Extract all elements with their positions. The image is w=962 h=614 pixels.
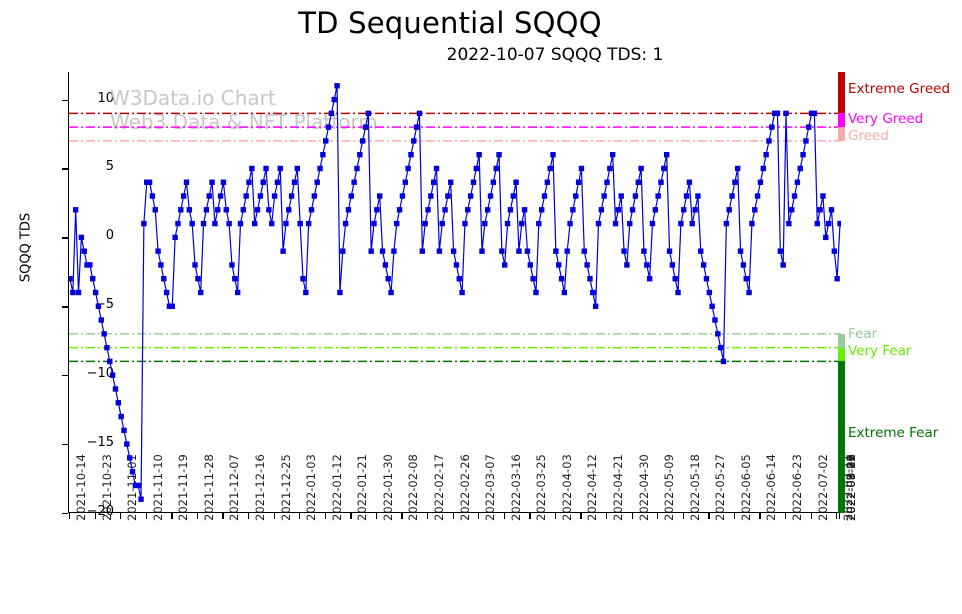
zone-bar-extreme-fear [838, 361, 845, 513]
data-point-marker [306, 221, 311, 226]
data-point-marker [124, 441, 129, 446]
data-point-marker [130, 469, 135, 474]
x-tick-mark [708, 513, 709, 519]
data-point-marker [195, 276, 200, 281]
data-point-marker [570, 207, 575, 212]
data-point-marker [79, 235, 84, 240]
data-point-marker [360, 138, 365, 143]
data-point-marker [627, 221, 632, 226]
data-point-marker [363, 124, 368, 129]
data-point-marker [729, 193, 734, 198]
data-point-marker [783, 111, 788, 116]
data-point-marker [158, 262, 163, 267]
data-point-marker [272, 193, 277, 198]
data-point-marker [780, 262, 785, 267]
data-point-marker [565, 248, 570, 253]
data-point-marker [93, 290, 98, 295]
x-tick-mark [453, 513, 454, 519]
data-point-marker [235, 290, 240, 295]
data-point-marker [556, 262, 561, 267]
data-point-marker [229, 262, 234, 267]
data-point-marker [832, 248, 837, 253]
x-tick-mark [427, 513, 428, 519]
data-point-marker [482, 221, 487, 226]
data-point-marker [525, 248, 530, 253]
data-point-marker [550, 152, 555, 157]
data-point-marker [536, 221, 541, 226]
data-point-marker [587, 276, 592, 281]
data-point-marker [707, 290, 712, 295]
data-point-marker [127, 455, 132, 460]
data-point-marker [803, 138, 808, 143]
data-point-marker [391, 248, 396, 253]
data-point-marker [630, 207, 635, 212]
data-point-marker [101, 331, 106, 336]
data-point-marker [817, 207, 822, 212]
data-point-marker [283, 221, 288, 226]
data-point-marker [800, 152, 805, 157]
data-point-marker [675, 290, 680, 295]
data-point-marker [192, 262, 197, 267]
data-point-marker [204, 207, 209, 212]
data-point-marker [161, 276, 166, 281]
data-point-marker [758, 180, 763, 185]
data-point-marker [499, 248, 504, 253]
data-point-marker [187, 207, 192, 212]
data-point-marker [266, 207, 271, 212]
data-point-marker [431, 180, 436, 185]
data-point-marker [420, 248, 425, 253]
data-point-marker [664, 152, 669, 157]
data-point-marker [155, 248, 160, 253]
data-point-marker [135, 483, 140, 488]
data-point-marker [428, 193, 433, 198]
x-tick-mark [759, 513, 760, 519]
x-tick-mark [69, 513, 70, 519]
zone-bar-extreme-greed [838, 72, 845, 113]
x-tick-mark [401, 513, 402, 519]
data-point-marker [712, 317, 717, 322]
series-line [70, 86, 840, 499]
data-point-marker [775, 111, 780, 116]
data-point-marker [673, 276, 678, 281]
data-point-marker [766, 138, 771, 143]
data-point-marker [380, 248, 385, 253]
data-point-marker [789, 207, 794, 212]
data-point-marker [792, 193, 797, 198]
data-point-marker [616, 207, 621, 212]
data-point-marker [837, 221, 841, 226]
y-tick-mark [62, 513, 68, 514]
data-point-marker [735, 166, 740, 171]
data-point-marker [547, 166, 552, 171]
data-point-marker [755, 193, 760, 198]
series-canvas [69, 72, 841, 513]
data-point-marker [607, 166, 612, 171]
data-point-marker [87, 262, 92, 267]
data-point-marker [99, 317, 104, 322]
x-tick-mark [171, 513, 172, 519]
data-point-marker [553, 248, 558, 253]
data-point-marker [752, 207, 757, 212]
data-point-marker [604, 180, 609, 185]
zone-label-very-fear: Very Fear [848, 343, 911, 359]
data-point-marker [113, 386, 118, 391]
data-point-marker [573, 193, 578, 198]
x-tick-label: 2022-09-30 [844, 454, 858, 521]
data-point-marker [184, 180, 189, 185]
data-point-marker [226, 221, 231, 226]
data-point-marker [292, 180, 297, 185]
data-point-marker [437, 248, 442, 253]
data-point-marker [610, 152, 615, 157]
data-point-marker [295, 166, 300, 171]
data-point-marker [502, 262, 507, 267]
data-point-marker [374, 207, 379, 212]
data-point-marker [320, 152, 325, 157]
x-tick-mark [350, 513, 351, 519]
data-point-marker [164, 290, 169, 295]
data-point-marker [678, 221, 683, 226]
data-point-marker [488, 193, 493, 198]
data-point-marker [582, 248, 587, 253]
data-point-marker [312, 193, 317, 198]
x-tick-mark [683, 513, 684, 519]
data-point-marker [479, 248, 484, 253]
zone-label-very-greed: Very Greed [848, 111, 923, 127]
data-point-marker [411, 138, 416, 143]
data-point-marker [261, 180, 266, 185]
data-point-marker [340, 248, 345, 253]
data-point-marker [823, 235, 828, 240]
data-point-marker [749, 221, 754, 226]
data-point-marker [584, 262, 589, 267]
data-point-marker [354, 166, 359, 171]
data-point-marker [303, 290, 308, 295]
data-point-marker [323, 138, 328, 143]
data-point-marker [638, 166, 643, 171]
data-point-marker [377, 193, 382, 198]
data-point-marker [349, 193, 354, 198]
data-point-marker [695, 193, 700, 198]
x-tick-mark [580, 513, 581, 519]
data-point-marker [153, 207, 158, 212]
data-point-marker [147, 180, 152, 185]
data-point-marker [636, 180, 641, 185]
zone-label-extreme-greed: Extreme Greed [848, 81, 950, 97]
data-point-marker [334, 83, 339, 88]
data-point-marker [238, 221, 243, 226]
data-point-marker [698, 248, 703, 253]
data-point-marker [241, 207, 246, 212]
x-tick-mark [274, 513, 275, 519]
data-point-marker [172, 235, 177, 240]
data-point-marker [692, 207, 697, 212]
data-point-marker [175, 221, 180, 226]
x-tick-mark [555, 513, 556, 519]
data-point-marker [440, 221, 445, 226]
x-tick-mark [657, 513, 658, 519]
data-point-marker [511, 193, 516, 198]
data-point-marker [218, 193, 223, 198]
data-point-marker [633, 193, 638, 198]
data-point-marker [641, 248, 646, 253]
x-tick-mark [478, 513, 479, 519]
x-tick-mark [785, 513, 786, 519]
data-point-marker [255, 207, 260, 212]
x-tick-mark [606, 513, 607, 519]
data-point-marker [425, 207, 430, 212]
data-point-marker [258, 193, 263, 198]
data-point-marker [457, 276, 462, 281]
zone-bar-greed [838, 127, 845, 141]
data-point-marker [224, 207, 229, 212]
data-point-marker [496, 152, 501, 157]
data-point-marker [732, 180, 737, 185]
data-point-marker [494, 166, 499, 171]
data-point-marker [513, 180, 518, 185]
data-point-marker [326, 124, 331, 129]
data-point-marker [383, 262, 388, 267]
data-point-marker [300, 276, 305, 281]
data-point-marker [110, 372, 115, 377]
data-point-marker [278, 166, 283, 171]
x-tick-mark [120, 513, 121, 519]
data-point-marker [471, 180, 476, 185]
data-point-marker [445, 193, 450, 198]
data-point-marker [170, 304, 175, 309]
data-point-marker [545, 180, 550, 185]
data-point-marker [451, 248, 456, 253]
data-point-marker [667, 248, 672, 253]
data-point-marker [309, 207, 314, 212]
x-tick-mark [734, 513, 735, 519]
data-point-marker [315, 180, 320, 185]
data-point-marker [701, 262, 706, 267]
data-point-marker [746, 290, 751, 295]
data-point-marker [408, 152, 413, 157]
data-point-marker [275, 180, 280, 185]
data-point-marker [232, 276, 237, 281]
data-point-marker [212, 221, 217, 226]
data-point-marker [596, 221, 601, 226]
data-point-marker [815, 221, 820, 226]
data-point-marker [121, 428, 126, 433]
zone-label-extreme-fear: Extreme Fear [848, 425, 938, 441]
data-point-marker [434, 166, 439, 171]
chart-page: TD Sequential SQQQ 2022-10-07 SQQQ TDS: … [0, 0, 962, 614]
data-point-marker [820, 193, 825, 198]
data-point-marker [721, 359, 726, 364]
data-point-marker [462, 221, 467, 226]
data-point-marker [104, 345, 109, 350]
data-point-marker [681, 207, 686, 212]
x-tick-mark [839, 513, 840, 519]
data-point-marker [806, 124, 811, 129]
zone-bar-very-greed [838, 113, 845, 127]
data-point-marker [530, 276, 535, 281]
data-point-marker [263, 166, 268, 171]
data-point-marker [243, 193, 248, 198]
data-point-marker [522, 207, 527, 212]
data-point-marker [474, 166, 479, 171]
data-point-marker [269, 221, 274, 226]
data-point-marker [465, 207, 470, 212]
data-point-marker [670, 262, 675, 267]
data-point-marker [724, 221, 729, 226]
data-point-marker [397, 207, 402, 212]
x-tick-mark [248, 513, 249, 519]
data-point-marker [505, 221, 510, 226]
data-point-marker [178, 207, 183, 212]
data-point-marker [763, 152, 768, 157]
data-point-marker [201, 221, 206, 226]
data-point-marker [795, 180, 800, 185]
data-point-marker [826, 221, 831, 226]
data-point-marker [116, 400, 121, 405]
data-point-marker [332, 97, 337, 102]
data-point-marker [718, 345, 723, 350]
x-tick-mark [836, 513, 837, 519]
data-point-marker [198, 290, 203, 295]
data-point-marker [96, 304, 101, 309]
data-point-marker [508, 207, 513, 212]
data-point-marker [366, 111, 371, 116]
data-point-marker [448, 180, 453, 185]
data-point-marker [346, 207, 351, 212]
data-point-marker [798, 166, 803, 171]
x-tick-mark [529, 513, 530, 519]
x-tick-mark [811, 513, 812, 519]
data-point-marker [405, 166, 410, 171]
data-point-marker [468, 193, 473, 198]
data-point-marker [528, 262, 533, 267]
data-point-marker [658, 180, 663, 185]
data-point-marker [567, 221, 572, 226]
data-point-marker [107, 359, 112, 364]
data-point-marker [593, 304, 598, 309]
data-point-marker [317, 166, 322, 171]
data-point-marker [90, 276, 95, 281]
data-point-marker [337, 290, 342, 295]
data-point-marker [70, 290, 75, 295]
data-point-marker [621, 248, 626, 253]
data-point-marker [297, 221, 302, 226]
data-point-marker [690, 221, 695, 226]
data-point-marker [141, 221, 146, 226]
data-point-marker [601, 193, 606, 198]
data-point-marker [661, 166, 666, 171]
data-point-marker [519, 221, 524, 226]
data-point-marker [280, 248, 285, 253]
data-point-marker [709, 304, 714, 309]
data-point-marker [516, 248, 521, 253]
data-point-marker [644, 262, 649, 267]
data-point-marker [82, 248, 87, 253]
data-point-marker [579, 166, 584, 171]
data-point-marker [650, 221, 655, 226]
data-point-marker [562, 290, 567, 295]
data-point-marker [221, 180, 226, 185]
data-point-marker [476, 152, 481, 157]
data-point-marker [249, 166, 254, 171]
data-point-marker [834, 276, 839, 281]
data-point-marker [590, 290, 595, 295]
data-point-marker [181, 193, 186, 198]
data-point-marker [417, 111, 422, 116]
data-point-marker [246, 180, 251, 185]
data-point-marker [576, 180, 581, 185]
data-point-marker [207, 193, 212, 198]
x-tick-mark [632, 513, 633, 519]
x-tick-mark [299, 513, 300, 519]
data-point-marker [684, 193, 689, 198]
data-point-marker [69, 276, 73, 281]
data-point-marker [118, 414, 123, 419]
data-point-marker [687, 180, 692, 185]
data-point-marker [329, 111, 334, 116]
data-point-marker [769, 124, 774, 129]
data-point-marker [624, 262, 629, 267]
data-point-marker [599, 207, 604, 212]
data-point-marker [715, 331, 720, 336]
data-point-marker [422, 221, 427, 226]
data-point-marker [386, 276, 391, 281]
data-point-marker [653, 207, 658, 212]
zone-bar-fear [838, 334, 845, 348]
x-tick-mark [325, 513, 326, 519]
zone-bar-very-fear [838, 348, 845, 362]
data-point-marker [357, 152, 362, 157]
chart-title: TD Sequential SQQQ [0, 6, 900, 40]
data-point-marker [403, 180, 408, 185]
data-point-marker [289, 193, 294, 198]
data-point-marker [459, 290, 464, 295]
data-point-marker [73, 207, 78, 212]
data-point-marker [209, 180, 214, 185]
data-point-marker [343, 221, 348, 226]
data-point-marker [76, 290, 81, 295]
data-point-marker [741, 262, 746, 267]
data-point-marker [371, 221, 376, 226]
data-point-marker [559, 276, 564, 281]
data-point-marker [778, 248, 783, 253]
data-point-marker [414, 124, 419, 129]
data-point-marker [368, 248, 373, 253]
data-point-marker [812, 111, 817, 116]
data-point-marker [150, 193, 155, 198]
x-tick-mark [504, 513, 505, 519]
data-point-marker [394, 221, 399, 226]
data-point-marker [454, 262, 459, 267]
data-point-marker [542, 193, 547, 198]
zone-label-greed: Greed [848, 128, 889, 144]
data-point-marker [400, 193, 405, 198]
data-point-marker [442, 207, 447, 212]
data-point-marker [351, 180, 356, 185]
data-point-marker [388, 290, 393, 295]
data-point-marker [761, 166, 766, 171]
data-point-marker [726, 207, 731, 212]
data-point-marker [252, 221, 257, 226]
data-point-marker [738, 248, 743, 253]
data-point-marker [491, 180, 496, 185]
data-point-marker [613, 221, 618, 226]
x-tick-mark [197, 513, 198, 519]
x-tick-mark [95, 513, 96, 519]
data-point-marker [829, 207, 834, 212]
y-axis-label: SQQQ TDS [19, 178, 34, 318]
